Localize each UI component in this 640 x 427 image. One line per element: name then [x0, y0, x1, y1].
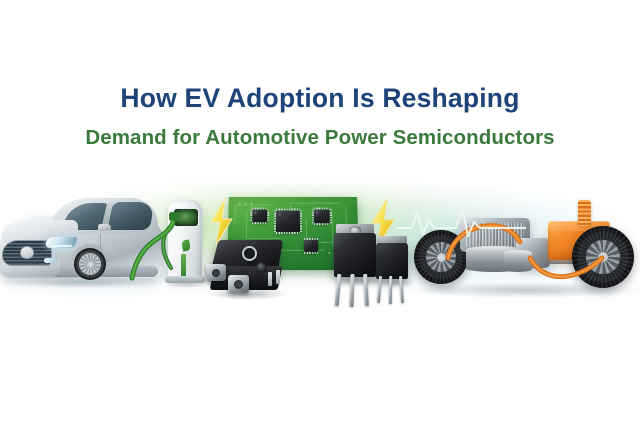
car-fog-light — [44, 258, 58, 263]
pcb-chip-qfp-center — [276, 210, 300, 232]
banner-subtitle: Demand for Automotive Power Semiconducto… — [0, 113, 640, 150]
power-module — [200, 238, 292, 308]
to220-leg-2 — [389, 276, 393, 304]
module-pin-2 — [276, 270, 280, 284]
pcb-chip-qfn-left — [252, 210, 267, 223]
chassis-hv-cable-right — [528, 248, 608, 288]
car-emblem-icon — [20, 246, 34, 259]
car-side-mirror — [98, 224, 111, 231]
to247-transistor-large — [330, 224, 386, 308]
to247-large-body — [334, 233, 376, 277]
car-front-wheel — [74, 248, 106, 280]
headline-block: How EV Adoption Is Reshaping Demand for … — [0, 84, 640, 150]
car-daytime-running-light — [50, 245, 72, 247]
pcb-chip-qfn-right — [314, 210, 330, 224]
chassis-suspension-spring — [578, 200, 591, 226]
module-terminal-center — [228, 275, 249, 293]
ev-semiconductor-banner: How EV Adoption Is Reshaping Demand for … — [0, 0, 640, 427]
pcb-chip-small-lower — [304, 240, 318, 252]
module-pin-1 — [268, 272, 272, 286]
product-montage — [0, 0, 640, 427]
car-wheel-hub — [87, 261, 94, 268]
module-terminal-left — [206, 264, 226, 281]
to247-large-leg-2 — [349, 274, 354, 307]
module-mounting-hole — [256, 262, 267, 273]
module-mounting-ring — [242, 246, 257, 261]
charging-cable — [118, 212, 180, 284]
banner-title: How EV Adoption Is Reshaping — [0, 84, 640, 113]
